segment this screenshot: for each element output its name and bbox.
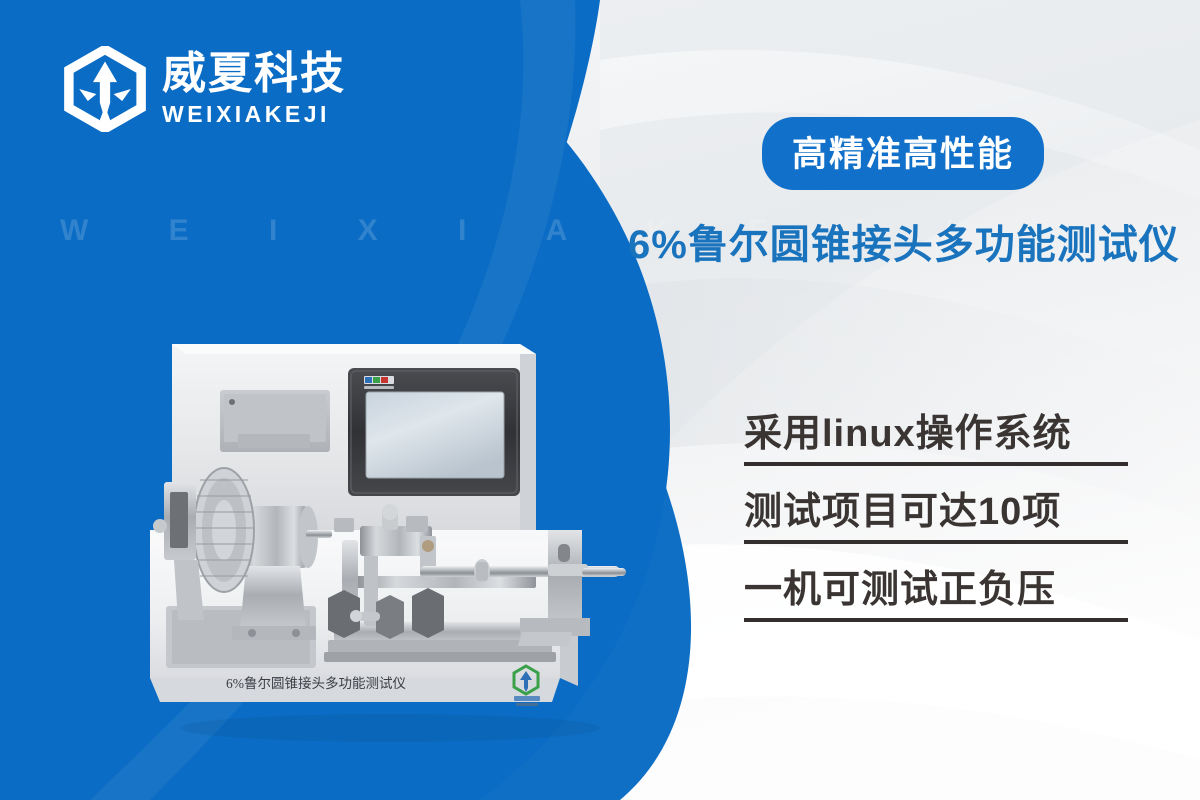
hex-knob-icon (376, 595, 404, 639)
product-image: 6%鲁尔圆锥接头多功能测试仪 (120, 330, 660, 750)
list-item: 一机可测试正负压 (744, 570, 1128, 622)
list-item: 采用linux操作系统 (744, 414, 1128, 466)
feature-label: 采用linux操作系统 (744, 414, 1128, 462)
highlight-badge: 高精准高性能 (762, 117, 1044, 190)
hexagon-arrow-logo-icon (62, 46, 148, 132)
divider (744, 462, 1128, 466)
watermark-text: W E I X I A K E J I (60, 214, 680, 248)
touchscreen-hmi-icon (348, 368, 520, 496)
feature-label: 测试项目可达10项 (744, 492, 1128, 540)
brand-logo: 威夏科技 WEIXIAKEJI (62, 46, 346, 132)
brand-name-cn: 威夏科技 (162, 52, 346, 96)
promo-banner: 威夏科技 WEIXIAKEJI W E I X I A K E J I 高精准高… (0, 0, 1200, 800)
divider (744, 618, 1128, 622)
feature-list: 采用linux操作系统 测试项目可达10项 一机可测试正负压 (744, 414, 1128, 648)
feature-label: 一机可测试正负压 (744, 570, 1128, 618)
brand-name-en: WEIXIAKEJI (162, 103, 346, 126)
page-title: 6%鲁尔圆锥接头多功能测试仪 (628, 212, 1180, 270)
divider (744, 540, 1128, 544)
list-item: 测试项目可达10项 (744, 492, 1128, 544)
hex-knob-icon (412, 588, 444, 638)
product-caption: 6%鲁尔圆锥接头多功能测试仪 (226, 675, 406, 691)
